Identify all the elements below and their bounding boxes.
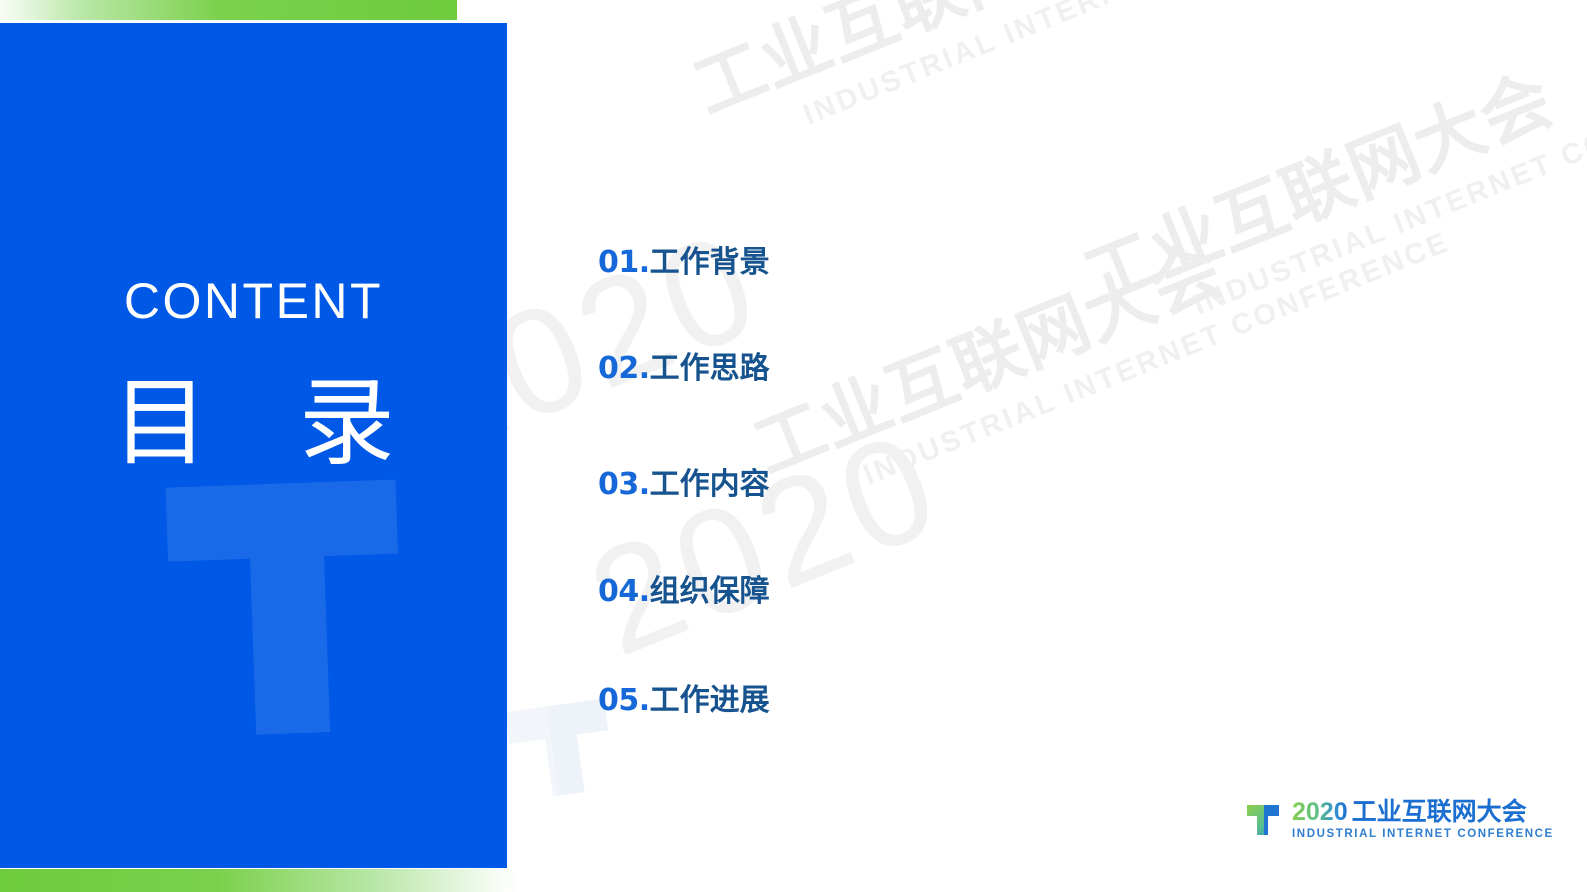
agenda-item-01[interactable]: 01.工作背景 [598,248,770,278]
footer-logo-year: 2020 [1292,800,1348,825]
agenda-item-label: 工作内容 [650,467,770,502]
watermark-cn-text: 工业互联网大会 [1067,0,1587,324]
panel-title-cn: 目 录 [0,373,507,474]
bottom-green-accent-bar [0,869,520,892]
agenda-item-number: 02. [598,351,650,386]
panel-watermark-logo-mark [145,448,456,778]
panel-title-en: CONTENT [0,276,507,326]
agenda-item-label: 工作背景 [650,245,770,280]
footer-brand-logo: 2020 工业互联网大会 INDUSTRIAL INTERNET CONFERE… [1244,796,1564,844]
agenda-item-number: 04. [598,574,650,609]
agenda-item-number: 05. [598,683,650,718]
agenda-item-label: 工作进展 [650,683,770,718]
footer-logo-en: INDUSTRIAL INTERNET CONFERENCE [1292,829,1554,841]
top-green-accent-bar [0,0,457,20]
agenda-item-number: 03. [598,467,650,502]
slide-canvas: 工业互联网大会 INDUSTRIAL INTERNET CONFERENCE 工… [0,0,1587,892]
agenda-item-04[interactable]: 04.组织保障 [598,577,770,607]
agenda-item-05[interactable]: 05.工作进展 [598,686,770,716]
conference-logo-icon [1244,800,1286,840]
agenda-item-number: 01. [598,245,650,280]
watermark-en-text: INDUSTRIAL INTERNET CONFERENCE [1189,56,1587,322]
agenda-list: 01.工作背景 02.工作思路 03.工作内容 04.组织保障 05.工作进展 [598,0,1018,892]
footer-logo-text: 2020 工业互联网大会 INDUSTRIAL INTERNET CONFERE… [1292,799,1554,841]
agenda-item-label: 工作思路 [650,351,770,386]
agenda-item-02[interactable]: 02.工作思路 [598,354,770,384]
footer-logo-headline: 2020 工业互联网大会 [1292,799,1554,825]
agenda-item-03[interactable]: 03.工作内容 [598,470,770,500]
watermark-lockup: 工业互联网大会 INDUSTRIAL INTERNET CONFERENCE [1067,0,1587,356]
agenda-item-label: 组织保障 [650,574,770,609]
left-blue-panel: CONTENT 目 录 [0,23,507,868]
footer-logo-cn: 工业互联网大会 [1352,799,1527,824]
